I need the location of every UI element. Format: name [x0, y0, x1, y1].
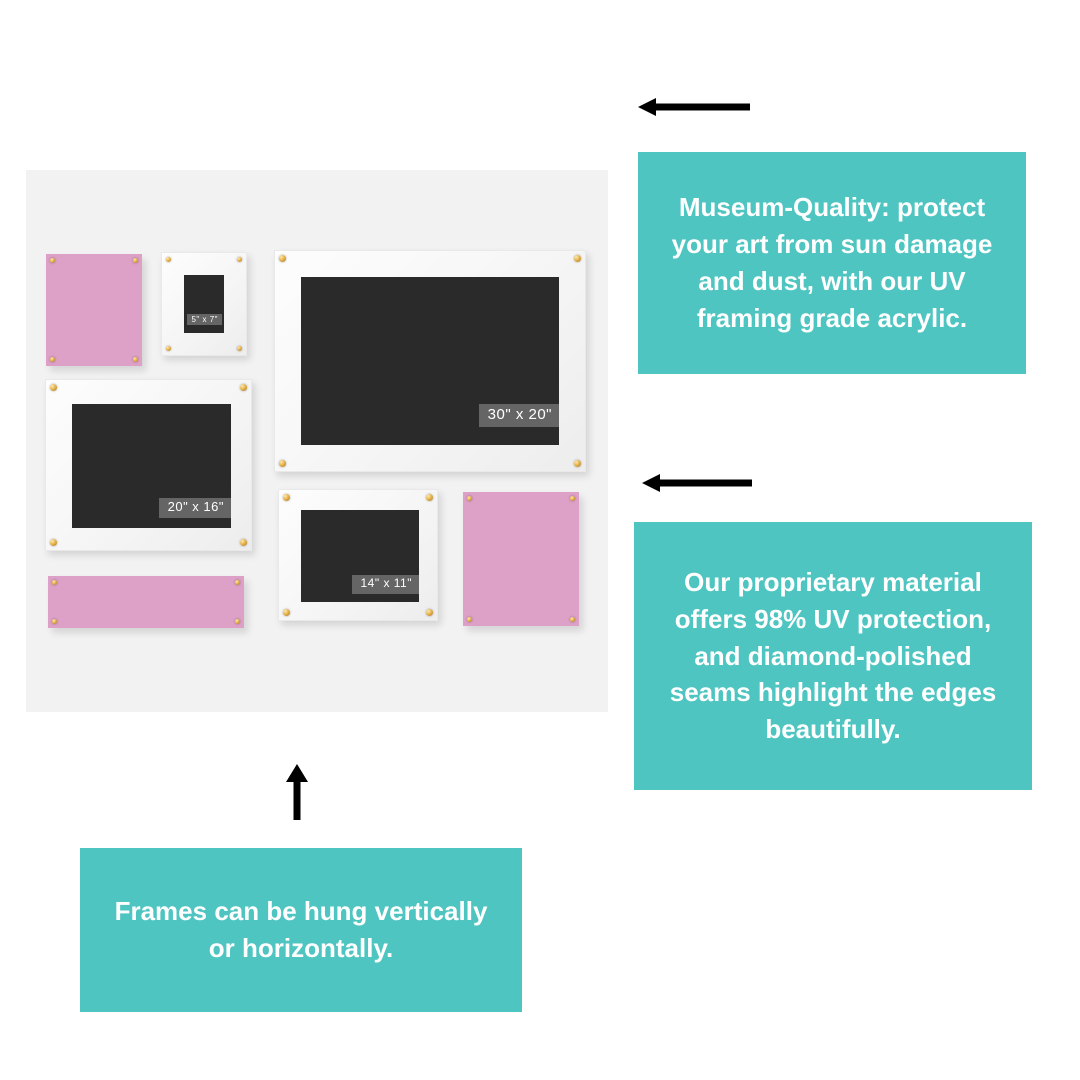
callout-museum: Museum-Quality: protect your art from su…: [638, 152, 1026, 374]
product-feature-infographic: 5" x 7" 30" x 20" 20" x 16": [0, 0, 1080, 1080]
frame-photo-20x16: 20" x 16": [72, 404, 231, 528]
callout-hanging-text: Frames can be hung vertically or horizon…: [98, 893, 504, 967]
pink-panel-bottom-left[interactable]: [48, 576, 244, 628]
size-label-14x11: 14" x 11": [352, 575, 420, 594]
standoff-pin-icon: [133, 357, 138, 362]
standoff-pin-icon: [166, 257, 171, 262]
size-label-20x16: 20" x 16": [159, 498, 231, 518]
frame-photo-14x11: 14" x 11": [301, 510, 419, 602]
standoff-pin-icon: [279, 255, 286, 262]
standoff-pin-icon: [467, 496, 472, 501]
frame-14x11[interactable]: 14" x 11": [278, 489, 438, 621]
frame-30x20[interactable]: 30" x 20": [274, 250, 586, 472]
standoff-pin-icon: [283, 494, 290, 501]
standoff-pin-icon: [237, 346, 242, 351]
arrow-left-icon: [636, 96, 752, 118]
standoff-pin-icon: [570, 496, 575, 501]
pink-panel-right[interactable]: [463, 492, 579, 626]
standoff-pin-icon: [50, 384, 57, 391]
standoff-pin-icon: [240, 384, 247, 391]
standoff-pin-icon: [52, 619, 57, 624]
standoff-pin-icon: [166, 346, 171, 351]
frame-photo-5x7: 5" x 7": [184, 275, 224, 333]
standoff-pin-icon: [240, 539, 247, 546]
pink-panel-top-left[interactable]: [46, 254, 142, 366]
standoff-pin-icon: [50, 258, 55, 263]
callout-museum-text: Museum-Quality: protect your art from su…: [656, 189, 1008, 337]
callout-uv-protection: Our proprietary material offers 98% UV p…: [634, 522, 1032, 790]
standoff-pin-icon: [467, 617, 472, 622]
standoff-pin-icon: [133, 258, 138, 263]
callout-hanging-orientation: Frames can be hung vertically or horizon…: [80, 848, 522, 1012]
acrylic-frame-gallery-wall: 5" x 7" 30" x 20" 20" x 16": [26, 170, 608, 712]
callout-uv-text: Our proprietary material offers 98% UV p…: [652, 564, 1014, 749]
frame-5x7[interactable]: 5" x 7": [161, 252, 247, 356]
standoff-pin-icon: [574, 460, 581, 467]
frame-20x16[interactable]: 20" x 16": [45, 379, 252, 551]
standoff-pin-icon: [574, 255, 581, 262]
standoff-pin-icon: [283, 609, 290, 616]
standoff-pin-icon: [237, 257, 242, 262]
standoff-pin-icon: [50, 539, 57, 546]
standoff-pin-icon: [426, 494, 433, 501]
size-label-30x20: 30" x 20": [479, 404, 559, 426]
standoff-pin-icon: [279, 460, 286, 467]
arrow-up-icon: [284, 762, 310, 822]
standoff-pin-icon: [426, 609, 433, 616]
standoff-pin-icon: [50, 357, 55, 362]
frame-photo-30x20: 30" x 20": [301, 277, 559, 445]
standoff-pin-icon: [235, 580, 240, 585]
arrow-left-icon: [640, 472, 754, 494]
standoff-pin-icon: [235, 619, 240, 624]
standoff-pin-icon: [570, 617, 575, 622]
size-label-5x7: 5" x 7": [187, 314, 222, 325]
standoff-pin-icon: [52, 580, 57, 585]
